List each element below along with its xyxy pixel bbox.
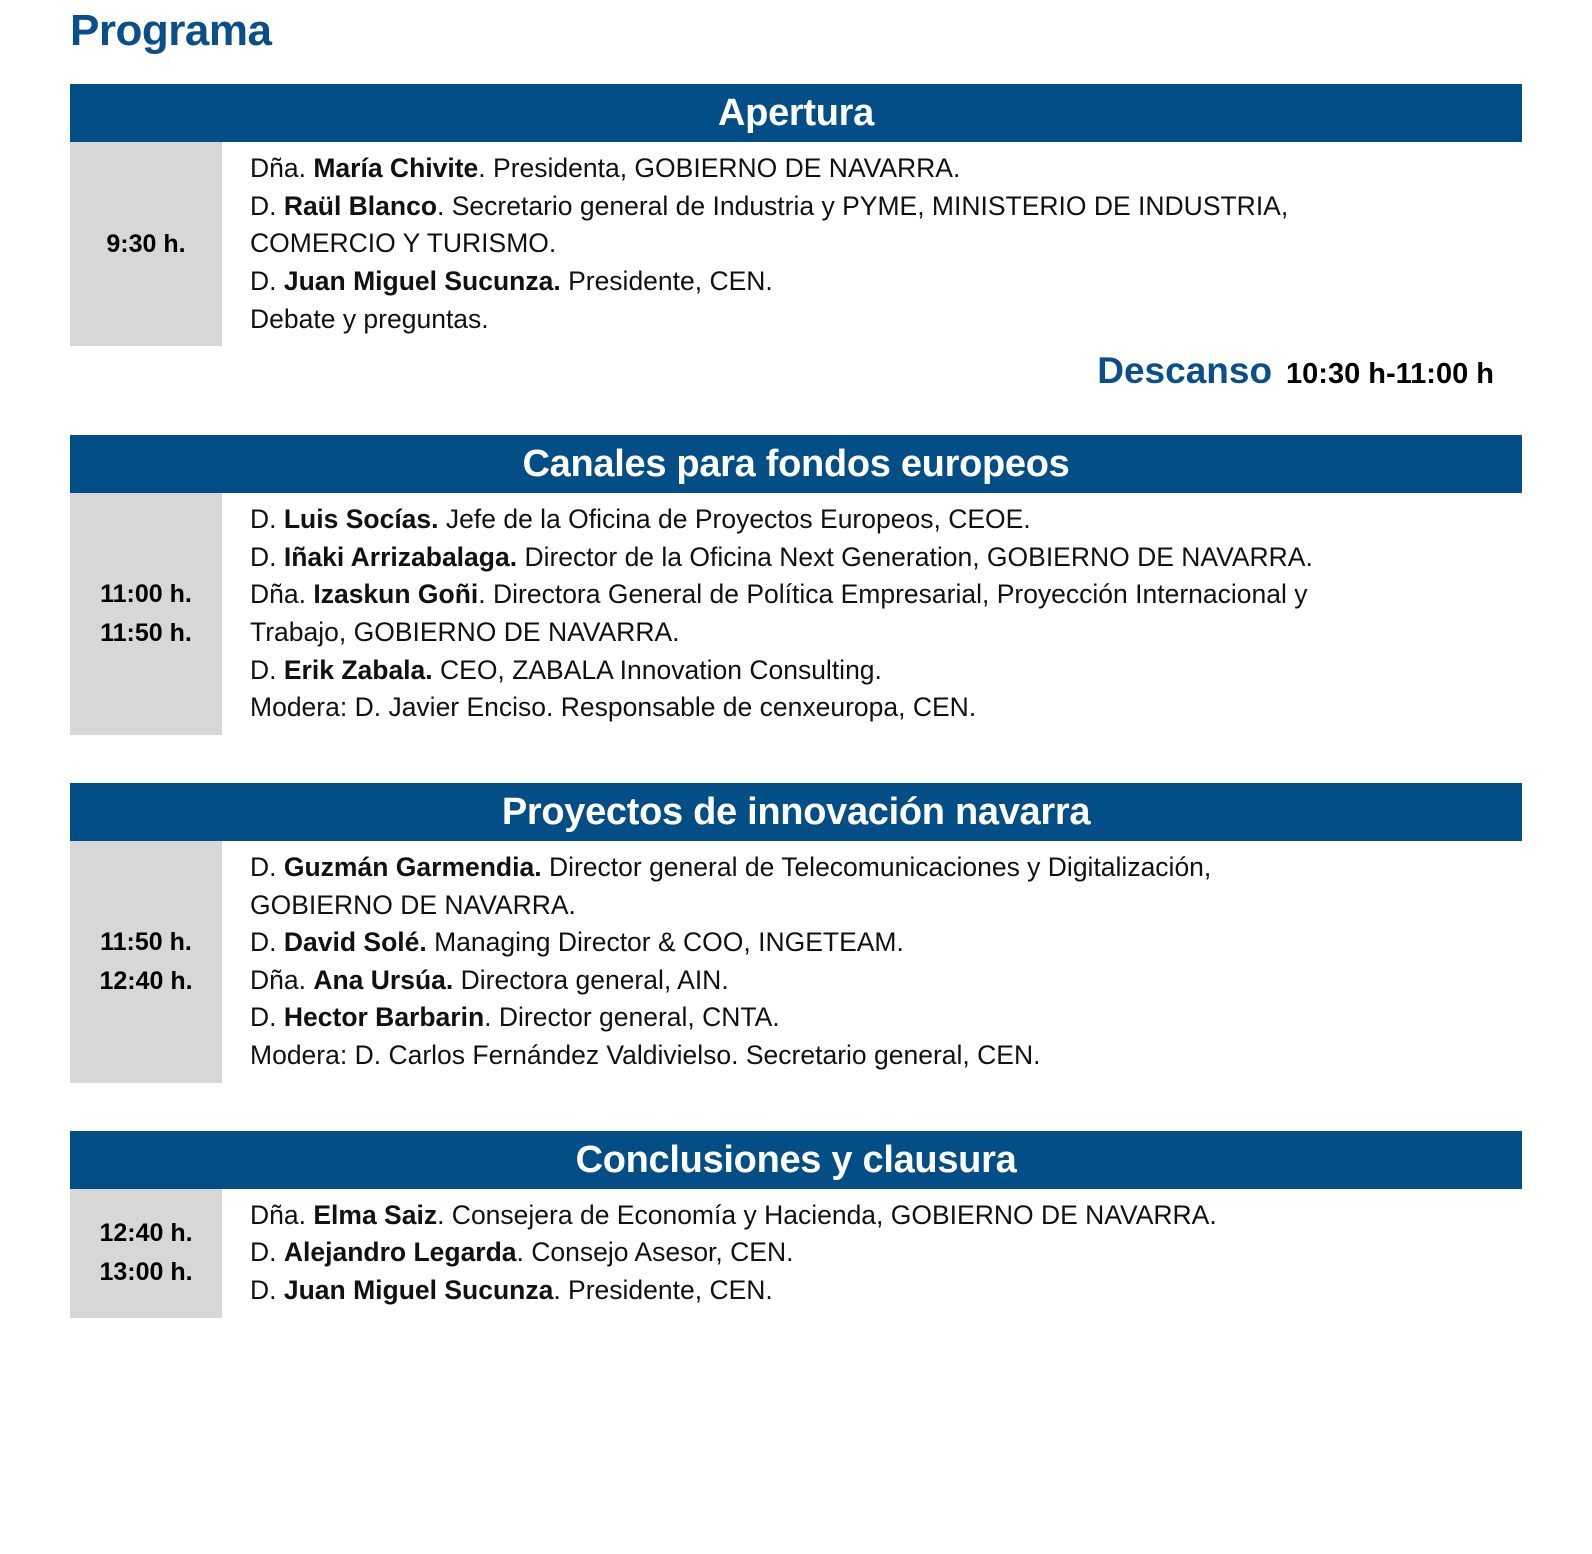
time-column: 9:30 h. <box>70 142 222 346</box>
speaker-role: . Presidenta, GOBIERNO DE NAVARRA. <box>478 153 960 183</box>
speaker-role: GOBIERNO DE NAVARRA. <box>250 890 576 920</box>
speaker-line: Dña. María Chivite. Presidenta, GOBIERNO… <box>250 150 1516 188</box>
speaker-name: Izaskun Goñi <box>313 579 478 609</box>
speaker-role: D. <box>250 542 284 572</box>
speaker-role: . Secretario general de Industria y PYME… <box>437 191 1288 221</box>
speaker-line: Dña. Ana Ursúa. Directora general, AIN. <box>250 962 1516 1000</box>
speaker-line: D. Hector Barbarin. Director general, CN… <box>250 999 1516 1037</box>
section-spacer <box>70 389 1522 435</box>
break-label: Descanso <box>1097 352 1272 389</box>
speaker-role: . Presidente, CEN. <box>553 1275 772 1305</box>
speaker-role: D. <box>250 655 284 685</box>
time-label: 11:50 h. <box>100 614 192 653</box>
speaker-role: Debate y preguntas. <box>250 304 489 334</box>
section-header-label: Conclusiones y clausura <box>576 1141 1017 1179</box>
time-column: 12:40 h.13:00 h. <box>70 1189 222 1318</box>
speaker-role: Modera: D. Javier Enciso. Responsable de… <box>250 692 976 722</box>
speaker-line: D. David Solé. Managing Director & COO, … <box>250 924 1516 962</box>
speaker-list: D. Guzmán Garmendia. Director general de… <box>222 841 1522 1083</box>
section-header-band-canales-para-fondos-europeos: Canales para fondos europeos <box>70 435 1522 493</box>
speaker-role: D. <box>250 852 284 882</box>
section-body-conclusiones-y-clausura: 12:40 h.13:00 h.Dña. Elma Saiz. Consejer… <box>70 1189 1522 1318</box>
speaker-role: . Directora General de Política Empresar… <box>478 579 1307 609</box>
section-body-proyectos-de-innovacion-navarra: 11:50 h.12:40 h.D. Guzmán Garmendia. Dir… <box>70 841 1522 1083</box>
section-spacer <box>70 1083 1522 1131</box>
speaker-line: COMERCIO Y TURISMO. <box>250 225 1516 263</box>
time-label: 12:40 h. <box>99 962 192 1001</box>
speaker-line: D. Luis Socías. Jefe de la Oficina de Pr… <box>250 501 1516 539</box>
speaker-role: Dña. <box>250 579 313 609</box>
program-schedule: Apertura9:30 h.Dña. María Chivite. Presi… <box>70 84 1522 1318</box>
section-spacer <box>70 735 1522 783</box>
speaker-line: Modera: D. Javier Enciso. Responsable de… <box>250 689 1516 727</box>
speaker-list: Dña. María Chivite. Presidenta, GOBIERNO… <box>222 142 1522 346</box>
speaker-name: María Chivite <box>313 153 478 183</box>
section-header-band-proyectos-de-innovacion-navarra: Proyectos de innovación navarra <box>70 783 1522 841</box>
speaker-name: Ana Ursúa. <box>313 965 453 995</box>
page-title: Programa <box>70 8 271 54</box>
speaker-line: Debate y preguntas. <box>250 301 1516 339</box>
speaker-role: Dña. <box>250 1200 313 1230</box>
speaker-line: Modera: D. Carlos Fernández Valdivielso.… <box>250 1037 1516 1075</box>
speaker-name: Luis Socías. <box>284 504 439 534</box>
speaker-name: Raül Blanco <box>284 191 437 221</box>
time-label: 11:50 h. <box>100 923 192 962</box>
program-section-conclusiones-y-clausura: Conclusiones y clausura12:40 h.13:00 h.D… <box>70 1131 1522 1318</box>
program-section-apertura: Apertura9:30 h.Dña. María Chivite. Presi… <box>70 84 1522 346</box>
speaker-role: Trabajo, GOBIERNO DE NAVARRA. <box>250 617 680 647</box>
speaker-line: Dña. Elma Saiz. Consejera de Economía y … <box>250 1197 1516 1235</box>
speaker-list: D. Luis Socías. Jefe de la Oficina de Pr… <box>222 493 1522 735</box>
speaker-role: Director de la Oficina Next Generation, … <box>517 542 1313 572</box>
program-page: Programa Apertura9:30 h.Dña. María Chivi… <box>0 0 1592 1554</box>
speaker-role: . Consejo Asesor, CEN. <box>517 1237 794 1267</box>
speaker-line: D. Juan Miguel Sucunza. Presidente, CEN. <box>250 1272 1516 1310</box>
speaker-role: D. <box>250 1237 284 1267</box>
time-label: 13:00 h. <box>99 1253 192 1292</box>
speaker-line: D. Raül Blanco. Secretario general de In… <box>250 188 1516 226</box>
speaker-line: D. Juan Miguel Sucunza. Presidente, CEN. <box>250 263 1516 301</box>
speaker-role: Jefe de la Oficina de Proyectos Europeos… <box>439 504 1031 534</box>
section-header-band-conclusiones-y-clausura: Conclusiones y clausura <box>70 1131 1522 1189</box>
speaker-name: Alejandro Legarda <box>284 1237 517 1267</box>
speaker-line: D. Guzmán Garmendia. Director general de… <box>250 849 1516 887</box>
speaker-line: D. Erik Zabala. CEO, ZABALA Innovation C… <box>250 652 1516 690</box>
break-time: 10:30 h-11:00 h <box>1286 360 1494 389</box>
speaker-role: D. <box>250 1275 284 1305</box>
speaker-name: Guzmán Garmendia. <box>284 852 542 882</box>
speaker-role: Directora general, AIN. <box>453 965 728 995</box>
speaker-role: D. <box>250 191 284 221</box>
speaker-role: COMERCIO Y TURISMO. <box>250 228 556 258</box>
time-column: 11:00 h.11:50 h. <box>70 493 222 735</box>
break-row: Descanso10:30 h-11:00 h <box>70 346 1522 389</box>
speaker-role: CEO, ZABALA Innovation Consulting. <box>433 655 882 685</box>
speaker-line: GOBIERNO DE NAVARRA. <box>250 887 1516 925</box>
program-section-proyectos-de-innovacion-navarra: Proyectos de innovación navarra11:50 h.1… <box>70 783 1522 1083</box>
section-body-canales-para-fondos-europeos: 11:00 h.11:50 h.D. Luis Socías. Jefe de … <box>70 493 1522 735</box>
speaker-role: Director general de Telecomunicaciones y… <box>542 852 1212 882</box>
speaker-name: Erik Zabala. <box>284 655 433 685</box>
section-body-apertura: 9:30 h.Dña. María Chivite. Presidenta, G… <box>70 142 1522 346</box>
speaker-line: Trabajo, GOBIERNO DE NAVARRA. <box>250 614 1516 652</box>
program-section-canales-para-fondos-europeos: Canales para fondos europeos11:00 h.11:5… <box>70 435 1522 735</box>
speaker-name: David Solé. <box>284 927 427 957</box>
section-header-label: Canales para fondos europeos <box>523 445 1070 483</box>
speaker-role: . Consejera de Economía y Hacienda, GOBI… <box>437 1200 1217 1230</box>
time-label: 9:30 h. <box>106 225 185 264</box>
speaker-role: . Director general, CNTA. <box>484 1002 780 1032</box>
speaker-name: Juan Miguel Sucunza. <box>284 266 561 296</box>
speaker-role: Dña. <box>250 965 313 995</box>
speaker-role: D. <box>250 927 284 957</box>
speaker-role: D. <box>250 504 284 534</box>
speaker-role: Presidente, CEN. <box>561 266 773 296</box>
speaker-line: D. Alejandro Legarda. Consejo Asesor, CE… <box>250 1234 1516 1272</box>
time-label: 11:00 h. <box>100 575 192 614</box>
speaker-name: Iñaki Arrizabalaga. <box>284 542 517 572</box>
speaker-list: Dña. Elma Saiz. Consejera de Economía y … <box>222 1189 1522 1318</box>
speaker-role: D. <box>250 1002 284 1032</box>
time-column: 11:50 h.12:40 h. <box>70 841 222 1083</box>
speaker-role: Modera: D. Carlos Fernández Valdivielso.… <box>250 1040 1040 1070</box>
speaker-name: Hector Barbarin <box>284 1002 484 1032</box>
speaker-role: D. <box>250 266 284 296</box>
section-header-band-apertura: Apertura <box>70 84 1522 142</box>
speaker-role: Managing Director & COO, INGETEAM. <box>427 927 904 957</box>
speaker-name: Elma Saiz <box>313 1200 437 1230</box>
section-header-label: Proyectos de innovación navarra <box>502 793 1090 831</box>
speaker-role: Dña. <box>250 153 313 183</box>
time-label: 12:40 h. <box>99 1214 192 1253</box>
speaker-name: Juan Miguel Sucunza <box>284 1275 553 1305</box>
speaker-line: Dña. Izaskun Goñi. Directora General de … <box>250 576 1516 614</box>
speaker-line: D. Iñaki Arrizabalaga. Director de la Of… <box>250 539 1516 577</box>
section-header-label: Apertura <box>718 94 874 132</box>
